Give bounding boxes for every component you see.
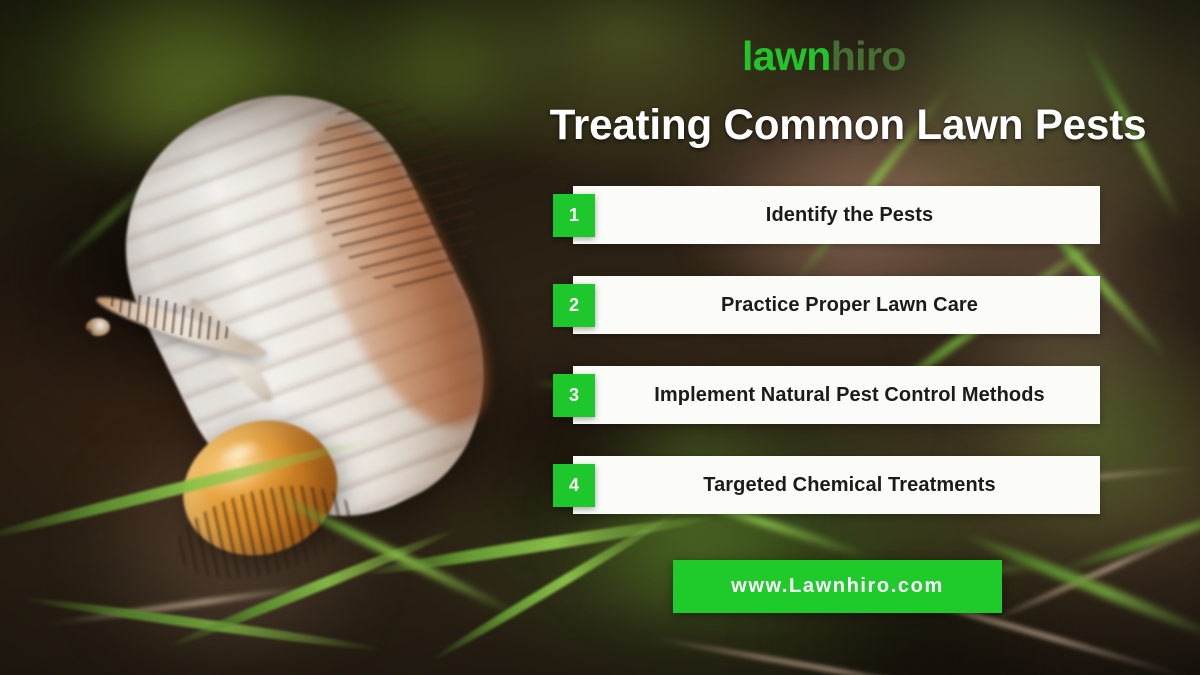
step-bar: Targeted Chemical Treatments	[573, 456, 1100, 514]
step-label: Implement Natural Pest Control Methods	[628, 384, 1045, 407]
step-bar: Implement Natural Pest Control Methods	[573, 366, 1100, 424]
step-bar: Identify the Pests	[573, 186, 1100, 244]
step-bar: Practice Proper Lawn Care	[573, 276, 1100, 334]
page-title: Treating Common Lawn Pests	[517, 101, 1179, 149]
step-label: Targeted Chemical Treatments	[677, 474, 996, 497]
step-number-badge: 4	[553, 464, 595, 507]
list-item: Practice Proper Lawn Care 2	[553, 276, 1100, 334]
list-item: Targeted Chemical Treatments 4	[553, 456, 1100, 514]
list-item: Implement Natural Pest Control Methods 3	[553, 366, 1100, 424]
step-number-badge: 1	[553, 194, 595, 237]
website-url-label: www.Lawnhiro.com	[731, 575, 944, 598]
logo-text-primary: lawn	[742, 33, 831, 79]
infographic-poster: lawnhiro Treating Common Lawn Pests Iden…	[0, 0, 1200, 675]
step-number-badge: 2	[553, 284, 595, 327]
logo-text-secondary: hiro	[831, 33, 906, 79]
step-number-badge: 3	[553, 374, 595, 417]
step-label: Practice Proper Lawn Care	[695, 294, 978, 317]
steps-list: Identify the Pests 1 Practice Proper Law…	[553, 186, 1100, 514]
website-url-button[interactable]: www.Lawnhiro.com	[673, 560, 1002, 613]
list-item: Identify the Pests 1	[553, 186, 1100, 244]
poster-content: lawnhiro Treating Common Lawn Pests Iden…	[0, 0, 1200, 675]
step-label: Identify the Pests	[740, 204, 933, 227]
brand-logo: lawnhiro	[742, 36, 906, 77]
